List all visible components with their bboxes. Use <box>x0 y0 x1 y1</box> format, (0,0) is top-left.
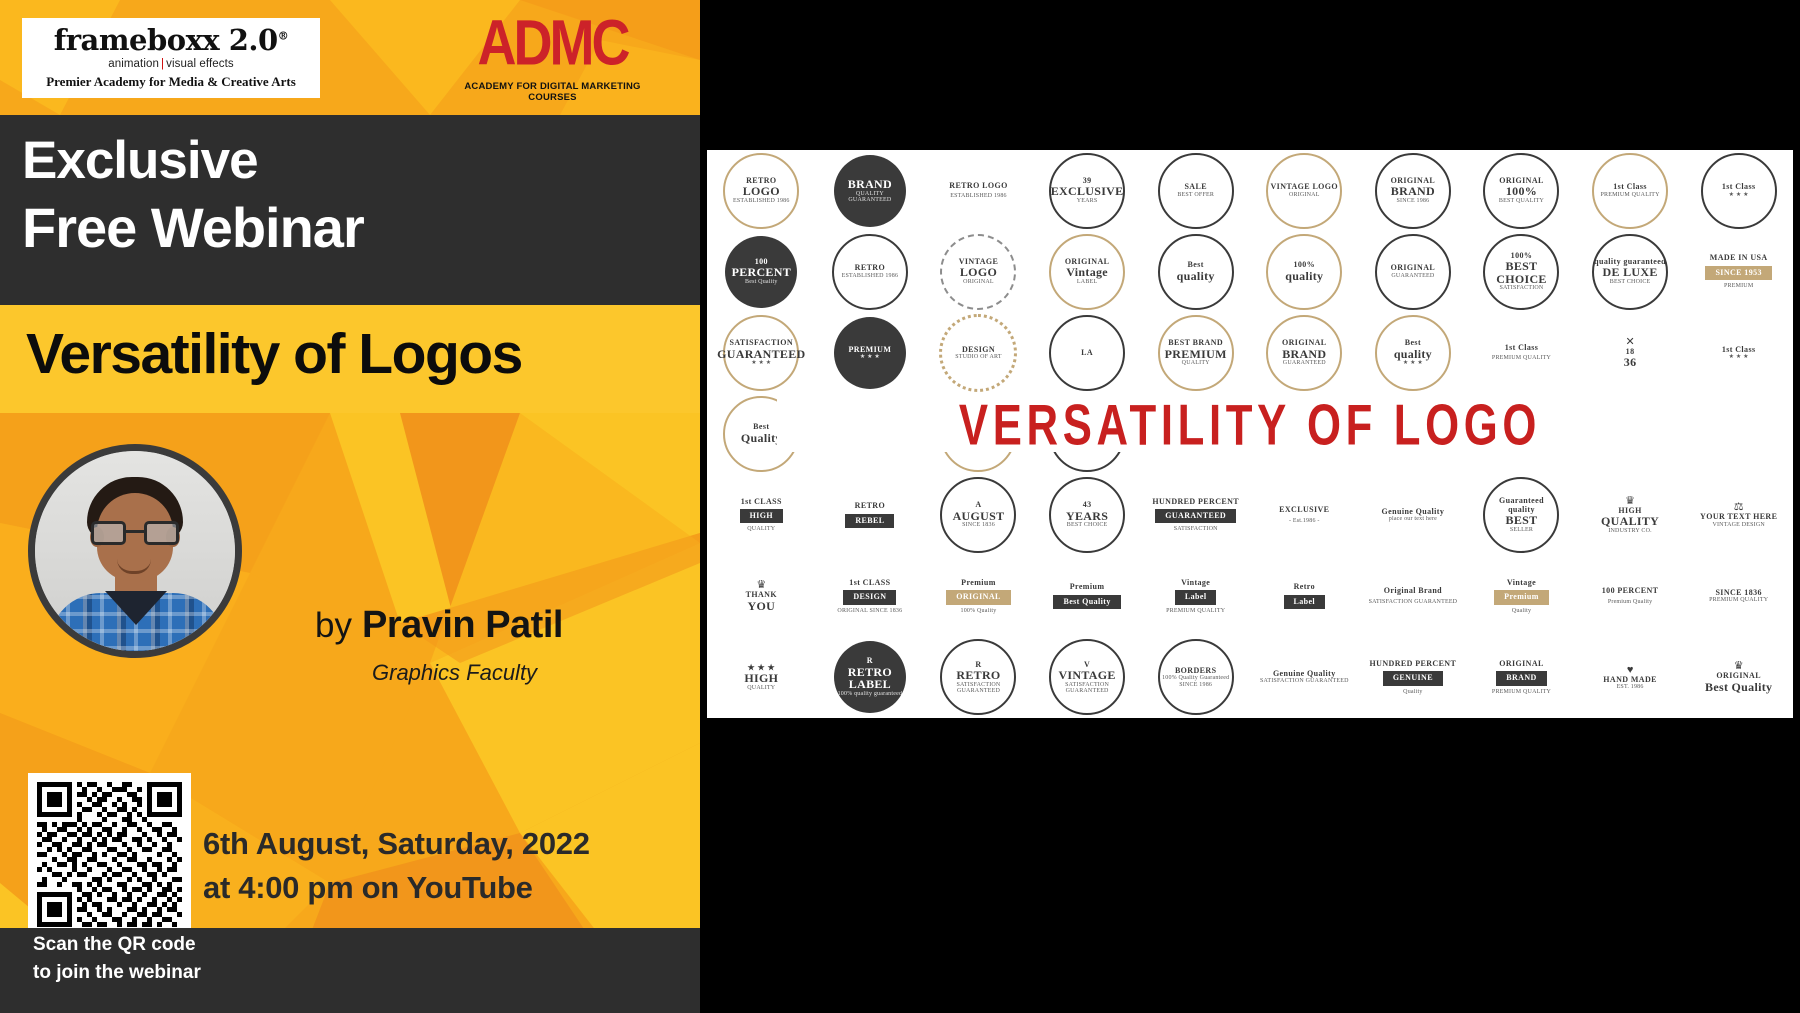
badge-line-2: LOGO <box>743 185 780 198</box>
badge-line-3: EST. 1986 <box>1617 684 1644 690</box>
badge-cell: ORIGINALGUARANTEED <box>1359 231 1468 312</box>
badge-line-2: Best Quality <box>1705 681 1772 694</box>
badge-line-2: 36 <box>1624 356 1637 369</box>
eyebrow-line-1: Exclusive <box>22 130 258 191</box>
badge-cell: ORIGINALVintageLABEL <box>1033 231 1142 312</box>
badge-line-3: PREMIUM QUALITY <box>1709 597 1768 603</box>
badge-line-3: ESTABLISHED 1986 <box>842 273 899 279</box>
badge-line-3: SATISFACTION <box>1500 285 1544 291</box>
badge-line-3: 100% quality guaranteed <box>838 691 903 697</box>
badge-line-3: SATISFACTION <box>1174 526 1218 532</box>
eyebrow-line-2: Free Webinar <box>22 195 364 260</box>
badge-line-3: place our text here <box>1389 516 1437 522</box>
badge-line-3: QUALITY <box>747 526 775 532</box>
badge-cell: RRETROSATISFACTION GUARANTEED <box>924 637 1033 718</box>
badge-cell: 43YEARSBEST CHOICE <box>1033 475 1142 556</box>
badge-line-1: VINTAGE LOGO <box>1271 183 1339 191</box>
badge-cell: VintagePremiumQuality <box>1467 556 1576 637</box>
badge-cell: Original BrandSATISFACTION GUARANTEED <box>1359 556 1468 637</box>
badge-cell: PremiumORIGINAL100% Quality <box>924 556 1033 637</box>
badge: LA <box>1049 315 1125 391</box>
badge-line-3: QUALITY <box>747 685 775 691</box>
badge-line-3: INDUSTRY CO. <box>1608 528 1652 534</box>
badge-cell: PremiumBest Quality <box>1033 556 1142 637</box>
qr-caption-line-1: Scan the QR code <box>33 934 196 956</box>
badge-cell: quality guaranteedDE LUXEBEST CHOICE <box>1576 231 1685 312</box>
badge-ribbon: HIGH <box>740 509 783 523</box>
title-band: Versatility of Logos <box>0 305 700 413</box>
badge: ✕1836 <box>1624 337 1637 369</box>
badge-ribbon: Premium <box>1494 590 1549 604</box>
badge-line-2: quality <box>1394 348 1432 361</box>
badge: 1st ClassPREMIUM QUALITY <box>1592 153 1668 229</box>
headline-backdrop <box>777 396 1771 452</box>
badge: ORIGINALGUARANTEED <box>1375 234 1451 310</box>
badge-ribbon: REBEL <box>845 514 894 528</box>
badge-line-2: PERCENT <box>732 266 791 279</box>
badge-ribbon: ORIGINAL <box>946 590 1011 604</box>
badge-cell: ♛THANKYOU <box>707 556 816 637</box>
badge: 1st Class★ ★ ★ <box>1701 153 1777 229</box>
badge-cell: 100%BEST CHOICESATISFACTION <box>1467 231 1576 312</box>
badge-cell: SINCE 1836PREMIUM QUALITY <box>1684 556 1793 637</box>
badge: VINTAGELOGOORIGINAL <box>940 234 1016 310</box>
badge-line-3: LABEL <box>1077 279 1097 285</box>
badge-line-3: STUDIO OF ART <box>955 354 1002 360</box>
badge-line-1: PREMIUM <box>848 346 891 354</box>
badge-cell: BORDERS100% Quality Guaranteed SINCE 198… <box>1141 637 1250 718</box>
badge-cell: RETROESTABLISHED 1986 <box>816 231 925 312</box>
badge: ♛ORIGINALBest Quality <box>1705 661 1772 693</box>
badge: PremiumORIGINAL100% Quality <box>946 579 1011 614</box>
badge-cell: ✕1836 <box>1576 312 1685 393</box>
badge-line-3: QUALITY GUARANTEED <box>834 191 906 204</box>
badge-line-1: Premium <box>961 579 996 587</box>
badge: VintagePremiumQuality <box>1494 579 1549 614</box>
badge: quality guaranteedDE LUXEBEST CHOICE <box>1592 234 1668 310</box>
badge-line-1: Premium <box>1070 583 1105 591</box>
badge-line-3: ★ ★ ★ <box>1729 192 1749 198</box>
registered-icon: ® <box>278 29 289 42</box>
badge-line-3: Quality <box>1403 689 1422 695</box>
speaker-role: Graphics Faculty <box>372 660 537 686</box>
badge: RETROREBEL <box>845 502 894 528</box>
badge: SALEBEST OFFER <box>1158 153 1234 229</box>
badge-ribbon: GENUINE <box>1383 671 1443 685</box>
badge-line-1: 1st CLASS <box>849 579 890 587</box>
badge-line-3: PREMIUM QUALITY <box>1601 192 1660 198</box>
badge-ribbon: Label <box>1175 590 1217 604</box>
logo-collage: RETROLOGOESTABLISHED 1986BRANDQUALITY GU… <box>707 150 1793 718</box>
badge-cell: SALEBEST OFFER <box>1141 150 1250 231</box>
badge: HUNDRED PERCENTGUARANTEEDSATISFACTION <box>1152 498 1239 533</box>
badge-line-3: BEST CHOICE <box>1610 279 1651 285</box>
badge-line-3: PREMIUM QUALITY <box>1492 689 1551 695</box>
badge: Original BrandSATISFACTION GUARANTEED <box>1369 587 1458 605</box>
badge: Guaranteed qualityBESTSELLER <box>1483 477 1559 553</box>
badge-line-1: RETRO <box>855 502 885 510</box>
badge-line-3: PREMIUM <box>1724 283 1753 289</box>
badge-cell: VintageLabelPREMIUM QUALITY <box>1141 556 1250 637</box>
badge-line-3: SATISFACTION GUARANTEED <box>942 682 1014 695</box>
badge: 43YEARSBEST CHOICE <box>1049 477 1125 553</box>
badge-line-3: ESTABLISHED 1986 <box>733 198 790 204</box>
badge-line-3: 100% Quality <box>961 608 997 614</box>
badge-cell: 100%quality <box>1250 231 1359 312</box>
badge: ORIGINALBRANDGUARANTEED <box>1266 315 1342 391</box>
qr-caption-line-2: to join the webinar <box>33 962 201 984</box>
glasses-icon <box>91 521 179 545</box>
badge: 1st CLASSDESIGNORIGINAL SINCE 1836 <box>837 579 902 614</box>
badge-cell: RETROREBEL <box>816 475 925 556</box>
badge-line-3: SATISFACTION GUARANTEED <box>1260 678 1349 684</box>
badge-line-1: HUNDRED PERCENT <box>1370 660 1457 668</box>
badge-line-2: YOU <box>748 600 776 613</box>
badge-line-2: LOGO <box>960 266 997 279</box>
badge-cell: Guaranteed qualityBESTSELLER <box>1467 475 1576 556</box>
badge-cell: SATISFACTIONGUARANTEED★ ★ ★ <box>707 312 816 393</box>
badge-cell: ♛HIGHQUALITYINDUSTRY CO. <box>1576 475 1685 556</box>
webinar-poster: frameboxx 2.0® animation|visual effects … <box>0 0 700 1013</box>
badge-ribbon: GUARANTEED <box>1155 509 1236 523</box>
badge: 39EXCLUSIVEYEARS <box>1049 153 1125 229</box>
admc-logo: ADMC ACADEMY FOR DIGITAL MARKETING COURS… <box>455 14 650 103</box>
badge: 1st Class★ ★ ★ <box>1722 346 1756 361</box>
badge-line-3: SINCE 1986 <box>1396 198 1429 204</box>
badge-line-3: ORIGINAL SINCE 1836 <box>837 608 902 614</box>
badge-cell: VINTAGELOGOORIGINAL <box>924 231 1033 312</box>
schedule-date: 6th August, Saturday, 2022 <box>203 826 590 862</box>
badge-line-1: 100 PERCENT <box>1602 587 1659 595</box>
badge-line-3: ESTABLISHED 1986 <box>950 193 1007 199</box>
badge-line-1: Guaranteed quality <box>1485 497 1557 514</box>
badge: 1st CLASSHIGHQUALITY <box>740 498 783 533</box>
badge-line-1: 1st Class <box>1613 183 1647 191</box>
badge-line-2: PREMIUM <box>1165 348 1227 361</box>
speaker-prefix: by <box>315 606 352 645</box>
badge-cell: HUNDRED PERCENTGUARANTEEDSATISFACTION <box>1141 475 1250 556</box>
heart-icon: ♥ <box>1627 665 1634 676</box>
badge-ribbon: Best Quality <box>1053 595 1120 609</box>
badge-line-2: VINTAGE <box>1058 669 1115 682</box>
glasses-lens-left <box>91 521 126 545</box>
badge: RETRO LOGOESTABLISHED 1986 <box>949 182 1007 200</box>
badge-line-1: SINCE 1836 <box>1715 589 1761 597</box>
frameboxx-logo: frameboxx 2.0® animation|visual effects … <box>22 18 320 98</box>
badge: RETROLOGOESTABLISHED 1986 <box>723 153 799 229</box>
badge: 100%quality <box>1266 234 1342 310</box>
frameboxx-wordmark: frameboxx 2.0® <box>54 26 288 55</box>
badge-line-3: PREMIUM QUALITY <box>1492 355 1551 361</box>
badge: SINCE 1836PREMIUM QUALITY <box>1709 589 1768 604</box>
footer-band: Scan the QR code to join the webinar <box>0 928 700 1013</box>
badge-cell: 1st CLASSDESIGNORIGINAL SINCE 1836 <box>816 556 925 637</box>
badge: EXCLUSIVE- Est.1986 - <box>1279 506 1329 524</box>
badge-ribbon: Label <box>1284 595 1326 609</box>
badge: Bestquality★ ★ ★ <box>1375 315 1451 391</box>
badge-line-2: QUALITY <box>1601 515 1659 528</box>
badge-cell: 100 PERCENTPremium Quality <box>1576 556 1685 637</box>
badge-cell: ORIGINALBRANDGUARANTEED <box>1250 312 1359 393</box>
badge-line-1: ORIGINAL <box>1391 264 1436 272</box>
badge-line-2: quality <box>1285 270 1323 283</box>
badge-line-1: 1st Class <box>1722 346 1756 354</box>
badge-line-1: HUNDRED PERCENT <box>1152 498 1239 506</box>
badge-line-1: 1st CLASS <box>741 498 782 506</box>
badge: 100%BEST CHOICESATISFACTION <box>1483 234 1559 310</box>
badge-line-3: BEST OFFER <box>1177 192 1214 198</box>
badge-cell: DESIGNSTUDIO OF ART <box>924 312 1033 393</box>
badge-ribbon: BRAND <box>1496 671 1546 685</box>
badge: VintageLabelPREMIUM QUALITY <box>1166 579 1225 614</box>
badge: ♥HAND MADEEST. 1986 <box>1603 665 1657 691</box>
frameboxx-sub-left: animation <box>108 58 159 70</box>
badge: BORDERS100% Quality Guaranteed SINCE 198… <box>1158 639 1234 715</box>
divider-icon: | <box>161 58 164 70</box>
schedule-time: at 4:00 pm on YouTube <box>203 870 533 906</box>
badge-cell: VVINTAGESATISFACTION GUARANTEED <box>1033 637 1142 718</box>
slide-image-panel: RETROLOGOESTABLISHED 1986BRANDQUALITY GU… <box>700 0 1800 1013</box>
badge-line-3: ★ ★ ★ <box>1729 354 1749 360</box>
qr-code-matrix <box>37 782 182 927</box>
badge-line-1: Retro <box>1294 583 1315 591</box>
badge-cell: RetroLabel <box>1250 556 1359 637</box>
frameboxx-subline: animation|visual effects <box>108 58 234 70</box>
badge: VINTAGE LOGOORIGINAL <box>1266 153 1342 229</box>
badge-cell: 1st Class★ ★ ★ <box>1684 150 1793 231</box>
badge-line-3: SELLER <box>1510 527 1533 533</box>
badge-line-1: Genuine Quality <box>1382 508 1445 516</box>
badge-line-1: ORIGINAL <box>1499 660 1544 668</box>
badge-line-2: Vintage <box>1066 266 1108 279</box>
eyebrow-band: Exclusive Free Webinar <box>0 115 700 305</box>
badge-line-1: RETRO <box>855 264 885 272</box>
badge-line-1: RETRO LOGO <box>949 182 1007 190</box>
badge-line-3: GUARANTEED <box>1391 273 1434 279</box>
badge-line-3: Quality <box>1512 608 1531 614</box>
header-logo-band: frameboxx 2.0® animation|visual effects … <box>0 0 700 115</box>
badge: 1st ClassPREMIUM QUALITY <box>1492 344 1551 362</box>
badge-cell: MADE IN USASINCE 1953PREMIUM <box>1684 231 1793 312</box>
badge-line-2: BEST CHOICE <box>1485 260 1557 285</box>
badge: ORIGINALBRANDSINCE 1986 <box>1375 153 1451 229</box>
badge-line-3: - Est.1986 - <box>1289 518 1320 524</box>
badge-cell: Genuine QualitySATISFACTION GUARANTEED <box>1250 637 1359 718</box>
frameboxx-name: frameboxx 2.0 <box>54 23 278 57</box>
badge-cell: ORIGINAL100%BEST QUALITY <box>1467 150 1576 231</box>
badge-cell: RETROLOGOESTABLISHED 1986 <box>707 150 816 231</box>
badge-line-3: ★ ★ ★ <box>860 354 880 360</box>
badge-line-1: EXCLUSIVE <box>1279 506 1329 514</box>
badge: RetroLabel <box>1284 583 1326 609</box>
badge-line-2: 100% <box>1506 185 1537 198</box>
badge-line-1: Vintage <box>1507 579 1536 587</box>
badge-cell: ⚖YOUR TEXT HEREVINTAGE DESIGN <box>1684 475 1793 556</box>
badge-line-2: AUGUST <box>953 510 1005 523</box>
page-title: Versatility of Logos <box>26 321 522 387</box>
admc-tagline: ACADEMY FOR DIGITAL MARKETING COURSES <box>455 81 650 103</box>
badge-cell: 1st Class★ ★ ★ <box>1684 312 1793 393</box>
badge-line-3: ORIGINAL <box>1289 192 1320 198</box>
badge-cell: 1st CLASSHIGHQUALITY <box>707 475 816 556</box>
badge-cell: ★ ★ ★HIGHQUALITY <box>707 637 816 718</box>
speaker-name: Pravin Patil <box>362 604 563 646</box>
poster-stage: frameboxx 2.0® animation|visual effects … <box>0 0 1800 1013</box>
badge-cell: VINTAGE LOGOORIGINAL <box>1250 150 1359 231</box>
badge-cell: RRETRO LABEL100% quality guaranteed <box>816 637 925 718</box>
badge-line-1: BORDERS <box>1175 667 1216 675</box>
badge-line-2: BRAND <box>1391 185 1435 198</box>
badge-line-2: BRAND <box>1282 348 1326 361</box>
admc-wordmark: ADMC <box>455 14 650 75</box>
badge: ⚖YOUR TEXT HEREVINTAGE DESIGN <box>1700 502 1777 528</box>
badge-ribbon: DESIGN <box>843 590 896 604</box>
badge-cell: Bestquality <box>1141 231 1250 312</box>
qr-code[interactable] <box>28 773 191 936</box>
badge-line-1: HAND MADE <box>1603 676 1657 684</box>
badge-cell: EXCLUSIVE- Est.1986 - <box>1250 475 1359 556</box>
badge: Genuine QualitySATISFACTION GUARANTEED <box>1260 670 1349 685</box>
badge-line-2: EXCLUSIVE <box>1051 185 1124 198</box>
badge-line-2: DE LUXE <box>1603 266 1658 279</box>
badge-cell: Genuine Qualityplace our text here <box>1359 475 1468 556</box>
badge-cell: 1st ClassPREMIUM QUALITY <box>1576 150 1685 231</box>
frameboxx-sub-right: visual effects <box>166 58 234 70</box>
badge-line-3: YEARS <box>1077 198 1098 204</box>
badge: 100PERCENTBest Quality <box>725 236 797 308</box>
badge-line-3: SATISFACTION GUARANTEED <box>1051 682 1123 695</box>
badge-cell: AAUGUSTSINCE 1836 <box>924 475 1033 556</box>
badge-line-2: RETRO LABEL <box>834 666 906 691</box>
badge-line-3: ★ ★ ★ <box>751 360 771 366</box>
badge: BEST BRANDPREMIUMQUALITY <box>1158 315 1234 391</box>
badge: ♛HIGHQUALITYINDUSTRY CO. <box>1601 496 1659 534</box>
speaker-byline: byPravin Patil <box>315 604 563 647</box>
badge: SATISFACTIONGUARANTEED★ ★ ★ <box>723 315 799 391</box>
badge-line-1: Vintage <box>1181 579 1210 587</box>
badge-line-3: QUALITY <box>1182 360 1210 366</box>
badge-line-1: 1st Class <box>1505 344 1539 352</box>
badge-line-3: Best Quality <box>745 279 778 285</box>
badge: ORIGINALBRANDPREMIUM QUALITY <box>1492 660 1551 695</box>
badge-line-2: BEST <box>1506 514 1538 527</box>
badge-line-3: ORIGINAL <box>963 279 994 285</box>
badge-line-2: HIGH <box>744 672 778 685</box>
badge: RETROESTABLISHED 1986 <box>832 234 908 310</box>
badge-line-3: SINCE 1836 <box>962 522 995 528</box>
badge: 100 PERCENTPremium Quality <box>1602 587 1659 605</box>
badge-line-2: RETRO <box>956 669 1000 682</box>
badge-cell: ORIGINALBRANDPREMIUM QUALITY <box>1467 637 1576 718</box>
badge-line-2: quality <box>1177 270 1215 283</box>
badge-line-1: Original Brand <box>1384 587 1442 595</box>
badge: ORIGINALVintageLABEL <box>1049 234 1125 310</box>
badge-cell: BEST BRANDPREMIUMQUALITY <box>1141 312 1250 393</box>
speaker-avatar <box>28 444 242 658</box>
badge-line-2: BRAND <box>848 178 892 191</box>
badge-line-1: Genuine Quality <box>1273 670 1336 678</box>
badge: DESIGNSTUDIO OF ART <box>939 314 1017 392</box>
badge-line-3: PREMIUM QUALITY <box>1166 608 1225 614</box>
badge-line-3: SATISFACTION GUARANTEED <box>1369 599 1458 605</box>
badge-cell: RETRO LOGOESTABLISHED 1986 <box>924 150 1033 231</box>
badge-line-3: ★ ★ ★ <box>1403 360 1423 366</box>
badge-line-1: DESIGN <box>962 346 995 354</box>
badge-ribbon: SINCE 1953 <box>1705 266 1771 280</box>
badge-line-3: GUARANTEED <box>1283 360 1326 366</box>
badge-cell: LA <box>1033 312 1142 393</box>
badge: ♛THANKYOU <box>746 580 777 612</box>
badge: PREMIUM★ ★ ★ <box>834 317 906 389</box>
badge: PremiumBest Quality <box>1053 583 1120 609</box>
badge-line-3: VINTAGE DESIGN <box>1712 522 1764 528</box>
badge: VVINTAGESATISFACTION GUARANTEED <box>1049 639 1125 715</box>
badge-line-3: 100% Quality Guaranteed SINCE 1986 <box>1160 675 1232 688</box>
badge: MADE IN USASINCE 1953PREMIUM <box>1705 254 1771 289</box>
badge: HUNDRED PERCENTGENUINEQuality <box>1370 660 1457 695</box>
badge: Bestquality <box>1158 234 1234 310</box>
badge: RRETROSATISFACTION GUARANTEED <box>940 639 1016 715</box>
badge: AAUGUSTSINCE 1836 <box>940 477 1016 553</box>
badge-cell: 100PERCENTBest Quality <box>707 231 816 312</box>
badge-line-1: SALE <box>1184 183 1207 191</box>
badge-line-1: LA <box>1081 349 1093 357</box>
badge-cell: PREMIUM★ ★ ★ <box>816 312 925 393</box>
badge-cell: ♛ORIGINALBest Quality <box>1684 637 1793 718</box>
frameboxx-tagline: Premier Academy for Media & Creative Art… <box>46 74 296 90</box>
badge-cell: BRANDQUALITY GUARANTEED <box>816 150 925 231</box>
badge-cell: 1st ClassPREMIUM QUALITY <box>1467 312 1576 393</box>
badge: ★ ★ ★HIGHQUALITY <box>744 664 778 691</box>
badge-line-3: BEST CHOICE <box>1067 522 1108 528</box>
badge-cell: HUNDRED PERCENTGENUINEQuality <box>1359 637 1468 718</box>
glasses-lens-right <box>144 521 179 545</box>
badge: RRETRO LABEL100% quality guaranteed <box>834 641 906 713</box>
badge-line-3: BEST QUALITY <box>1499 198 1544 204</box>
badge-line-1: YOUR TEXT HERE <box>1700 513 1777 521</box>
badge-line-1: MADE IN USA <box>1710 254 1768 262</box>
badge-line-3: Premium Quality <box>1608 599 1653 605</box>
badge-cell: ♥HAND MADEEST. 1986 <box>1576 637 1685 718</box>
badge: Genuine Qualityplace our text here <box>1382 508 1445 523</box>
badge-line-2: Quality <box>741 432 782 445</box>
badge-cell: ORIGINALBRANDSINCE 1986 <box>1359 150 1468 231</box>
badge-cell: 39EXCLUSIVEYEARS <box>1033 150 1142 231</box>
badge: BRANDQUALITY GUARANTEED <box>834 155 906 227</box>
badge-line-1: 1st Class <box>1722 183 1756 191</box>
glasses-bridge <box>126 530 144 533</box>
badge-cell: Bestquality★ ★ ★ <box>1359 312 1468 393</box>
badge-line-2: GUARANTEED <box>717 348 805 361</box>
badge-line-2: YEARS <box>1066 510 1108 523</box>
badge: ORIGINAL100%BEST QUALITY <box>1483 153 1559 229</box>
